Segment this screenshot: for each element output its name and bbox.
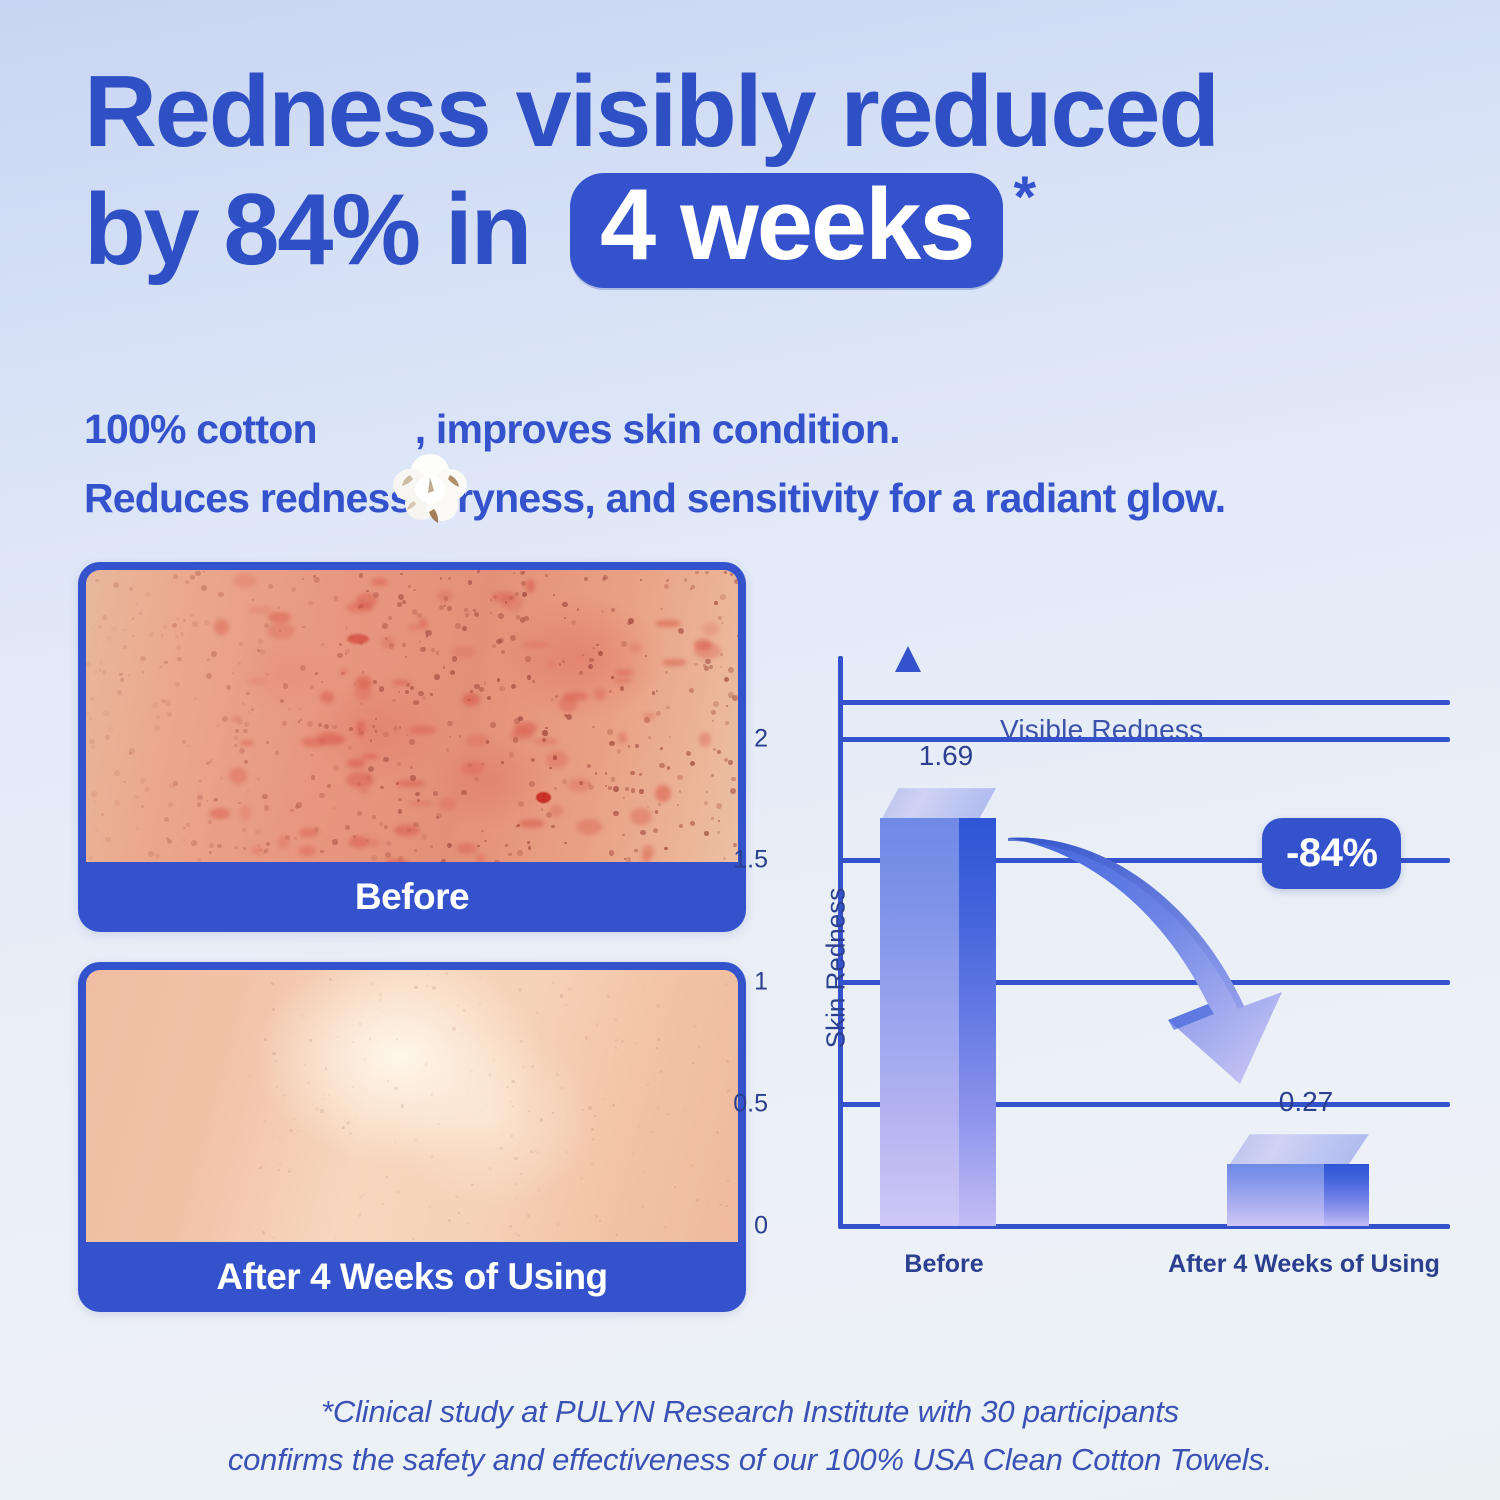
y-tick-label-0: 0 [754, 1212, 768, 1241]
skin-texture-clear [86, 970, 738, 1242]
reduction-percent-badge: -84% [1262, 818, 1401, 889]
bar-value-label-before: 1.69 [919, 740, 974, 772]
bar-front-face [880, 818, 959, 1226]
bar-top-face [1227, 1134, 1369, 1168]
bar-front-face [1227, 1164, 1324, 1226]
before-card-label: Before [86, 862, 738, 932]
before-skin-photo [86, 570, 738, 862]
bar-before [880, 788, 996, 1226]
headline-line-1: Redness visibly reduced [84, 58, 1444, 167]
bar-top-face [880, 788, 996, 822]
skin-texture-irritated [86, 570, 738, 862]
after-photo-card: After 4 Weeks of Using [78, 962, 746, 1312]
redness-bar-chart: Skin Redness Visible Redness 00.511.52 1… [770, 648, 1450, 1288]
skin-pores-overlay [86, 570, 738, 862]
y-tick-label-1: 1 [754, 968, 768, 997]
gridline-top [838, 700, 1450, 705]
y-tick-label-0.5: 0.5 [733, 1090, 768, 1119]
sub-copy-line-1-a: 100% cotton [84, 399, 317, 460]
bar-side-face [1324, 1164, 1369, 1226]
cotton-boll-icon [325, 390, 409, 468]
weeks-pill-badge: 4 weeks [570, 173, 1003, 288]
bar-after [1227, 1134, 1369, 1226]
y-tick-label-1.5: 1.5 [733, 846, 768, 875]
before-photo-card: Before [78, 562, 746, 932]
y-tick-label-2: 2 [754, 724, 768, 753]
y-axis-arrow-icon [895, 646, 921, 672]
headline-line-2: by 84% in 4 weeks * [84, 173, 1444, 288]
sub-copy-line-2: Reduces redness, dryness, and sensitivit… [84, 468, 1424, 529]
footnote: *Clinical study at PULYN Research Instit… [0, 1388, 1500, 1484]
after-card-label: After 4 Weeks of Using [86, 1242, 738, 1312]
y-axis-title: Skin Redness [821, 888, 852, 1048]
bar-side-face [959, 818, 996, 1226]
headline-line-2-prefix: by 84% in [84, 176, 556, 285]
x-category-label-after: After 4 Weeks of Using [1168, 1250, 1440, 1279]
x-category-label-before: Before [904, 1250, 983, 1279]
sub-copy-line-1-b: , improves skin condition. [415, 399, 900, 460]
footnote-line-1: *Clinical study at PULYN Research Instit… [0, 1388, 1500, 1436]
page-headline: Redness visibly reduced by 84% in 4 week… [84, 58, 1444, 288]
footnote-line-2: confirms the safety and effectiveness of… [0, 1436, 1500, 1484]
asterisk-footnote-marker: * [1013, 167, 1033, 230]
skin-pores-overlay-after [86, 970, 738, 1242]
sub-copy-line-1: 100% cotton , improves skin condi [84, 390, 1424, 468]
bar-value-label-after: 0.27 [1279, 1086, 1334, 1118]
after-skin-photo [86, 970, 738, 1242]
sub-copy: 100% cotton , improves skin condi [84, 390, 1424, 529]
